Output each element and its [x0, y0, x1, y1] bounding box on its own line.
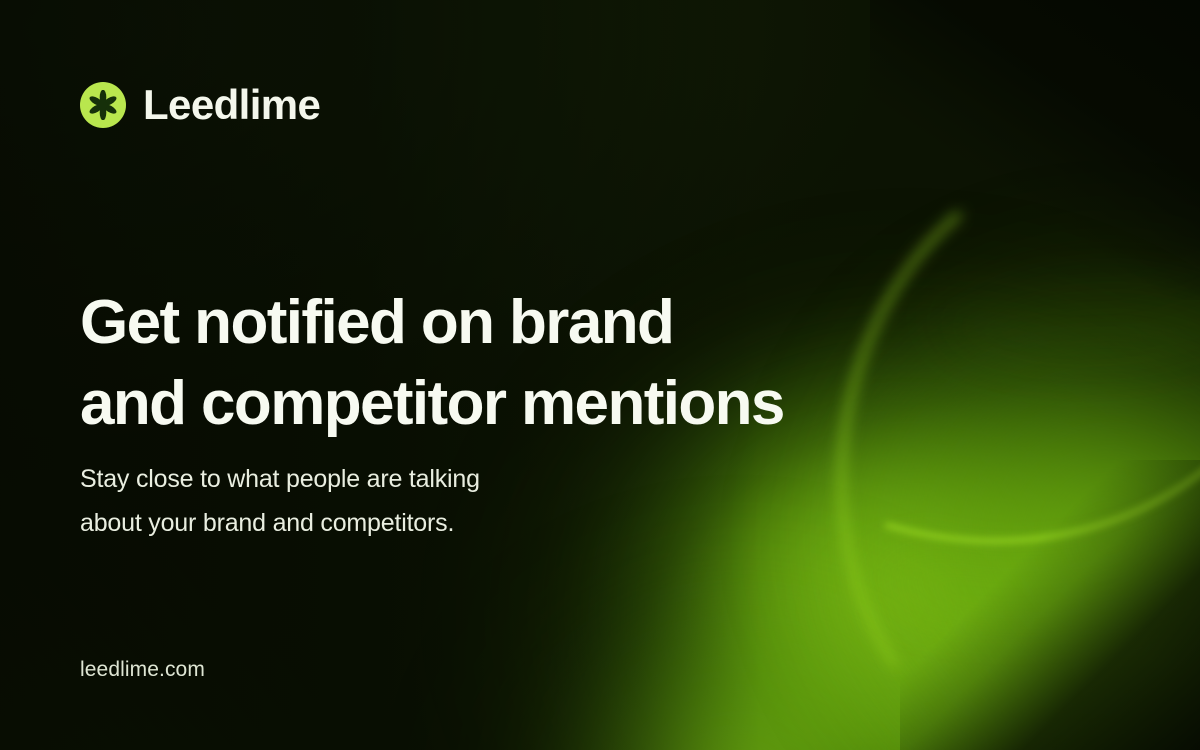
- brand-name: Leedlime: [143, 84, 320, 126]
- promo-banner: Leedlime Get notified on brand and compe…: [0, 0, 1200, 750]
- content-layer: Leedlime Get notified on brand and compe…: [0, 0, 1200, 750]
- brand-lockup[interactable]: Leedlime: [80, 82, 320, 128]
- site-url-label[interactable]: leedlime.com: [80, 658, 205, 682]
- headline-line-2: and competitor mentions: [80, 363, 784, 444]
- subheadline-line-1: Stay close to what people are talking: [80, 457, 480, 501]
- subheadline-line-2: about your brand and competitors.: [80, 501, 480, 545]
- headline-line-1: Get notified on brand: [80, 282, 784, 363]
- page-subtitle: Stay close to what people are talking ab…: [80, 457, 480, 545]
- page-title: Get notified on brand and competitor men…: [80, 282, 784, 444]
- flower-asterisk-icon: [80, 82, 126, 128]
